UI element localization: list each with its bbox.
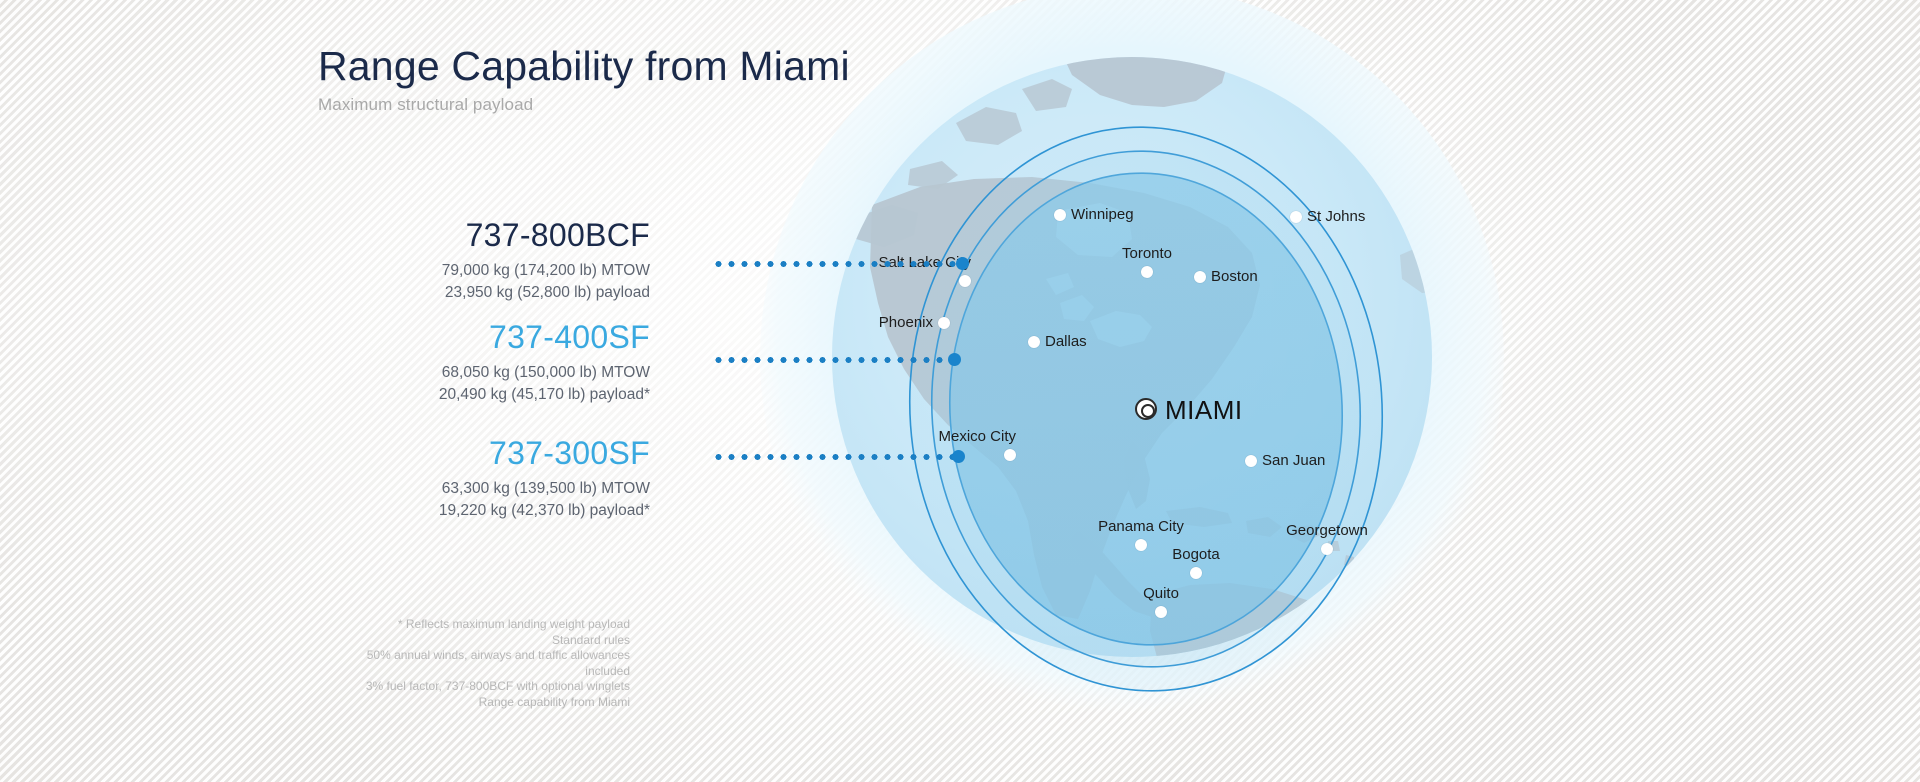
city-dot — [1155, 606, 1167, 618]
aircraft-mtow: 79,000 kg (174,200 lb) MTOW — [250, 260, 650, 282]
aircraft-payload: 23,950 kg (52,800 lb) payload — [250, 282, 650, 304]
leader-endpoint-737-800bcf — [956, 257, 969, 270]
page-subtitle: Maximum structural payload — [318, 95, 533, 115]
leader-line-737-300sf — [712, 454, 960, 460]
city-label: Boston — [1211, 269, 1258, 284]
leader-endpoint-737-400sf — [948, 353, 961, 366]
leader-line-737-800bcf — [712, 261, 964, 267]
city-dot — [1054, 209, 1066, 221]
target-circle-icon — [1135, 398, 1157, 420]
city-dot — [1321, 543, 1333, 555]
page-canvas: Winnipeg St Johns Salt Lake City Toronto… — [0, 0, 1920, 782]
footnotes-block: * Reflects maximum landing weight payloa… — [220, 617, 630, 710]
aircraft-model-name: 737-400SF — [250, 318, 650, 356]
city-label: Toronto — [1122, 246, 1172, 261]
footnote-line: included — [220, 664, 630, 680]
city-label: Bogota — [1172, 547, 1220, 562]
city-dot — [1004, 449, 1016, 461]
city-label: Panama City — [1098, 519, 1184, 534]
city-label: San Juan — [1262, 453, 1325, 468]
city-dot — [1028, 336, 1040, 348]
aircraft-payload: 19,220 kg (42,370 lb) payload* — [250, 500, 650, 522]
city-dot — [1190, 567, 1202, 579]
city-label: Georgetown — [1286, 523, 1368, 538]
aircraft-mtow: 63,300 kg (139,500 lb) MTOW — [250, 478, 650, 500]
aircraft-spec-737-300sf: 737-300SF 63,300 kg (139,500 lb) MTOW 19… — [250, 434, 650, 522]
page-title: Range Capability from Miami — [318, 43, 850, 90]
city-dot — [1194, 271, 1206, 283]
footnote-line: 50% annual winds, airways and traffic al… — [220, 648, 630, 664]
city-label: Phoenix — [879, 315, 933, 330]
footnote-line: * Reflects maximum landing weight payloa… — [220, 617, 630, 633]
city-dot — [938, 317, 950, 329]
city-label: Dallas — [1045, 334, 1087, 349]
footnote-line: Range capability from Miami — [220, 695, 630, 711]
city-dot — [1141, 266, 1153, 278]
aircraft-spec-737-400sf: 737-400SF 68,050 kg (150,000 lb) MTOW 20… — [250, 318, 650, 406]
city-dot — [1245, 455, 1257, 467]
aircraft-payload: 20,490 kg (45,170 lb) payload* — [250, 384, 650, 406]
city-label: Winnipeg — [1071, 207, 1134, 222]
city-dot — [1290, 211, 1302, 223]
footnote-line: 3% fuel factor, 737-800BCF with optional… — [220, 679, 630, 695]
city-label: St Johns — [1307, 209, 1365, 224]
aircraft-spec-737-800bcf: 737-800BCF 79,000 kg (174,200 lb) MTOW 2… — [250, 216, 650, 304]
info-panel: Range Capability from Miami Maximum stru… — [0, 0, 720, 782]
aircraft-mtow: 68,050 kg (150,000 lb) MTOW — [250, 362, 650, 384]
origin-label: MIAMI — [1165, 395, 1243, 426]
city-dot — [959, 275, 971, 287]
footnote-line: Standard rules — [220, 633, 630, 649]
city-dot — [1135, 539, 1147, 551]
leader-endpoint-737-300sf — [952, 450, 965, 463]
aircraft-model-name: 737-300SF — [250, 434, 650, 472]
leader-line-737-400sf — [712, 357, 956, 363]
city-label: Mexico City — [938, 429, 1016, 444]
city-label: Quito — [1143, 586, 1179, 601]
aircraft-model-name: 737-800BCF — [250, 216, 650, 254]
